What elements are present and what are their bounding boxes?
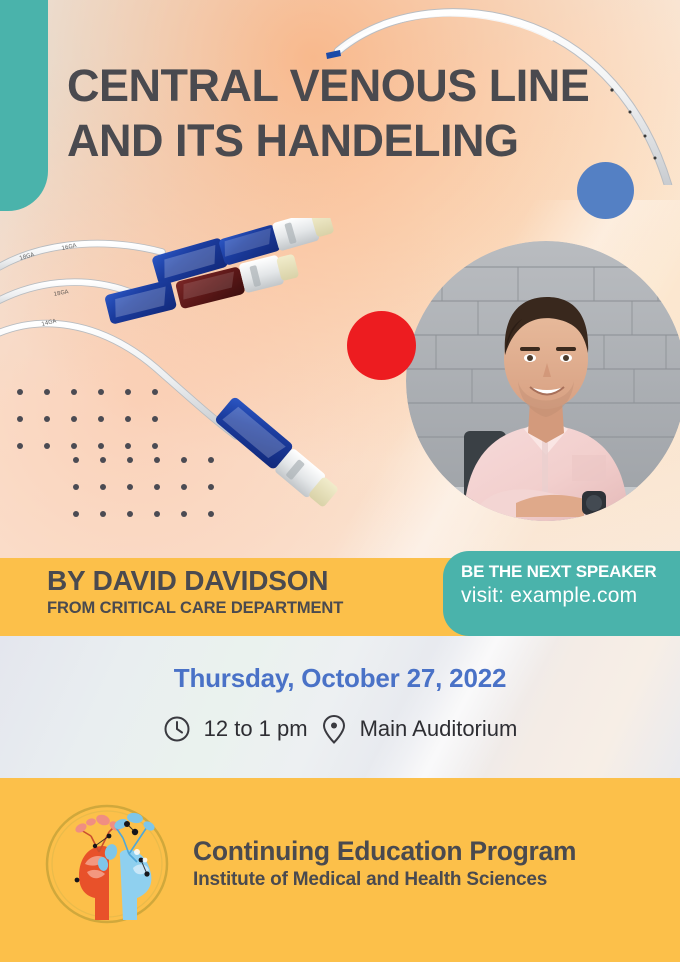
page-title: CENTRAL VENOUS LINE AND ITS HANDELING <box>67 58 657 169</box>
institute-name: Institute of Medical and Health Sciences <box>193 869 576 891</box>
event-date: Thursday, October 27, 2022 <box>0 663 680 694</box>
svg-text:18GA: 18GA <box>53 289 69 298</box>
footer-text-block: Continuing Education Program Institute o… <box>193 836 576 891</box>
speaker-portrait-photo <box>406 241 680 521</box>
be-the-next-speaker-cta[interactable]: BE THE NEXT SPEAKER visit: example.com <box>443 551 680 636</box>
event-time: 12 to 1 pm <box>204 716 308 742</box>
two-heads-brain-network-logo <box>37 802 177 926</box>
title-line-1: CENTRAL VENOUS LINE <box>67 60 589 111</box>
catheter-connectors-cluster: 18GA 16GA 18GA 14GA <box>0 218 410 528</box>
speaker-department: FROM CRITICAL CARE DEPARTMENT <box>47 599 343 618</box>
poster-canvas: 18GA 16GA 18GA 14GA <box>0 0 680 962</box>
title-line-2: AND ITS HANDELING <box>67 113 657 168</box>
red-circle <box>347 311 416 380</box>
program-name: Continuing Education Program <box>193 836 576 867</box>
speaker-name: BY DAVID DAVIDSON <box>47 565 328 597</box>
event-meta-row: 12 to 1 pm Main Auditorium <box>0 714 680 744</box>
background-lower-band <box>0 635 680 780</box>
event-location: Main Auditorium <box>360 716 518 742</box>
teal-rounded-tab <box>0 0 48 211</box>
cta-headline: BE THE NEXT SPEAKER <box>461 562 680 582</box>
clock-icon <box>163 715 191 743</box>
cta-url-link[interactable]: visit: example.com <box>461 584 680 608</box>
event-location-group: Main Auditorium <box>321 714 518 744</box>
map-pin-icon <box>321 714 347 744</box>
event-time-group: 12 to 1 pm <box>163 715 308 743</box>
